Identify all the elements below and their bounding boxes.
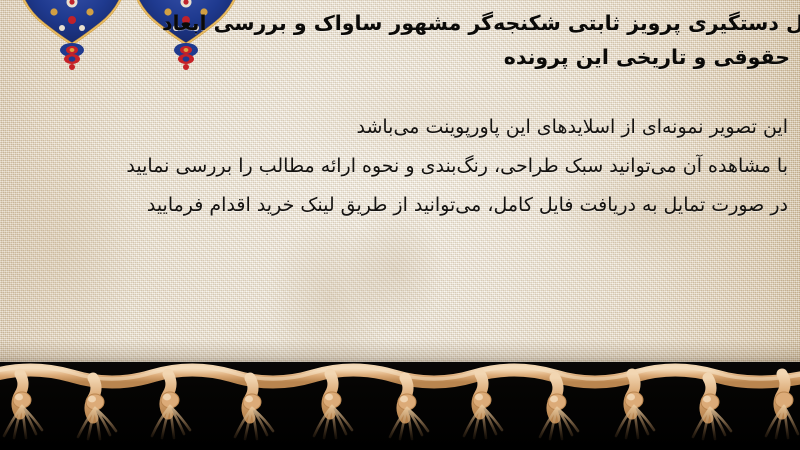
slide-title-line-1: بل دستگیری پرویز ثابتی شکنجه‌گر مشهور سا…: [0, 6, 800, 40]
knotted-rope-fringe-icon: [0, 356, 800, 450]
slide-body-text: این تصویر نمونه‌ای از اسلایدهای این پاور…: [0, 108, 788, 225]
bottom-fringe-band: [0, 362, 800, 450]
slide-body-line-3: در صورت تمایل به دریافت فایل کامل، می‌تو…: [0, 186, 788, 225]
slide-title-line-2: حقوقی و تاریخی این پرونده: [0, 40, 790, 74]
slide-title: بل دستگیری پرویز ثابتی شکنجه‌گر مشهور سا…: [0, 6, 790, 74]
slide-body-line-1: این تصویر نمونه‌ای از اسلایدهای این پاور…: [0, 108, 788, 147]
slide-body-line-2: با مشاهده آن می‌توانید سبک طراحی، رنگ‌بن…: [0, 147, 788, 186]
slide-canvas: بل دستگیری پرویز ثابتی شکنجه‌گر مشهور سا…: [0, 0, 800, 450]
